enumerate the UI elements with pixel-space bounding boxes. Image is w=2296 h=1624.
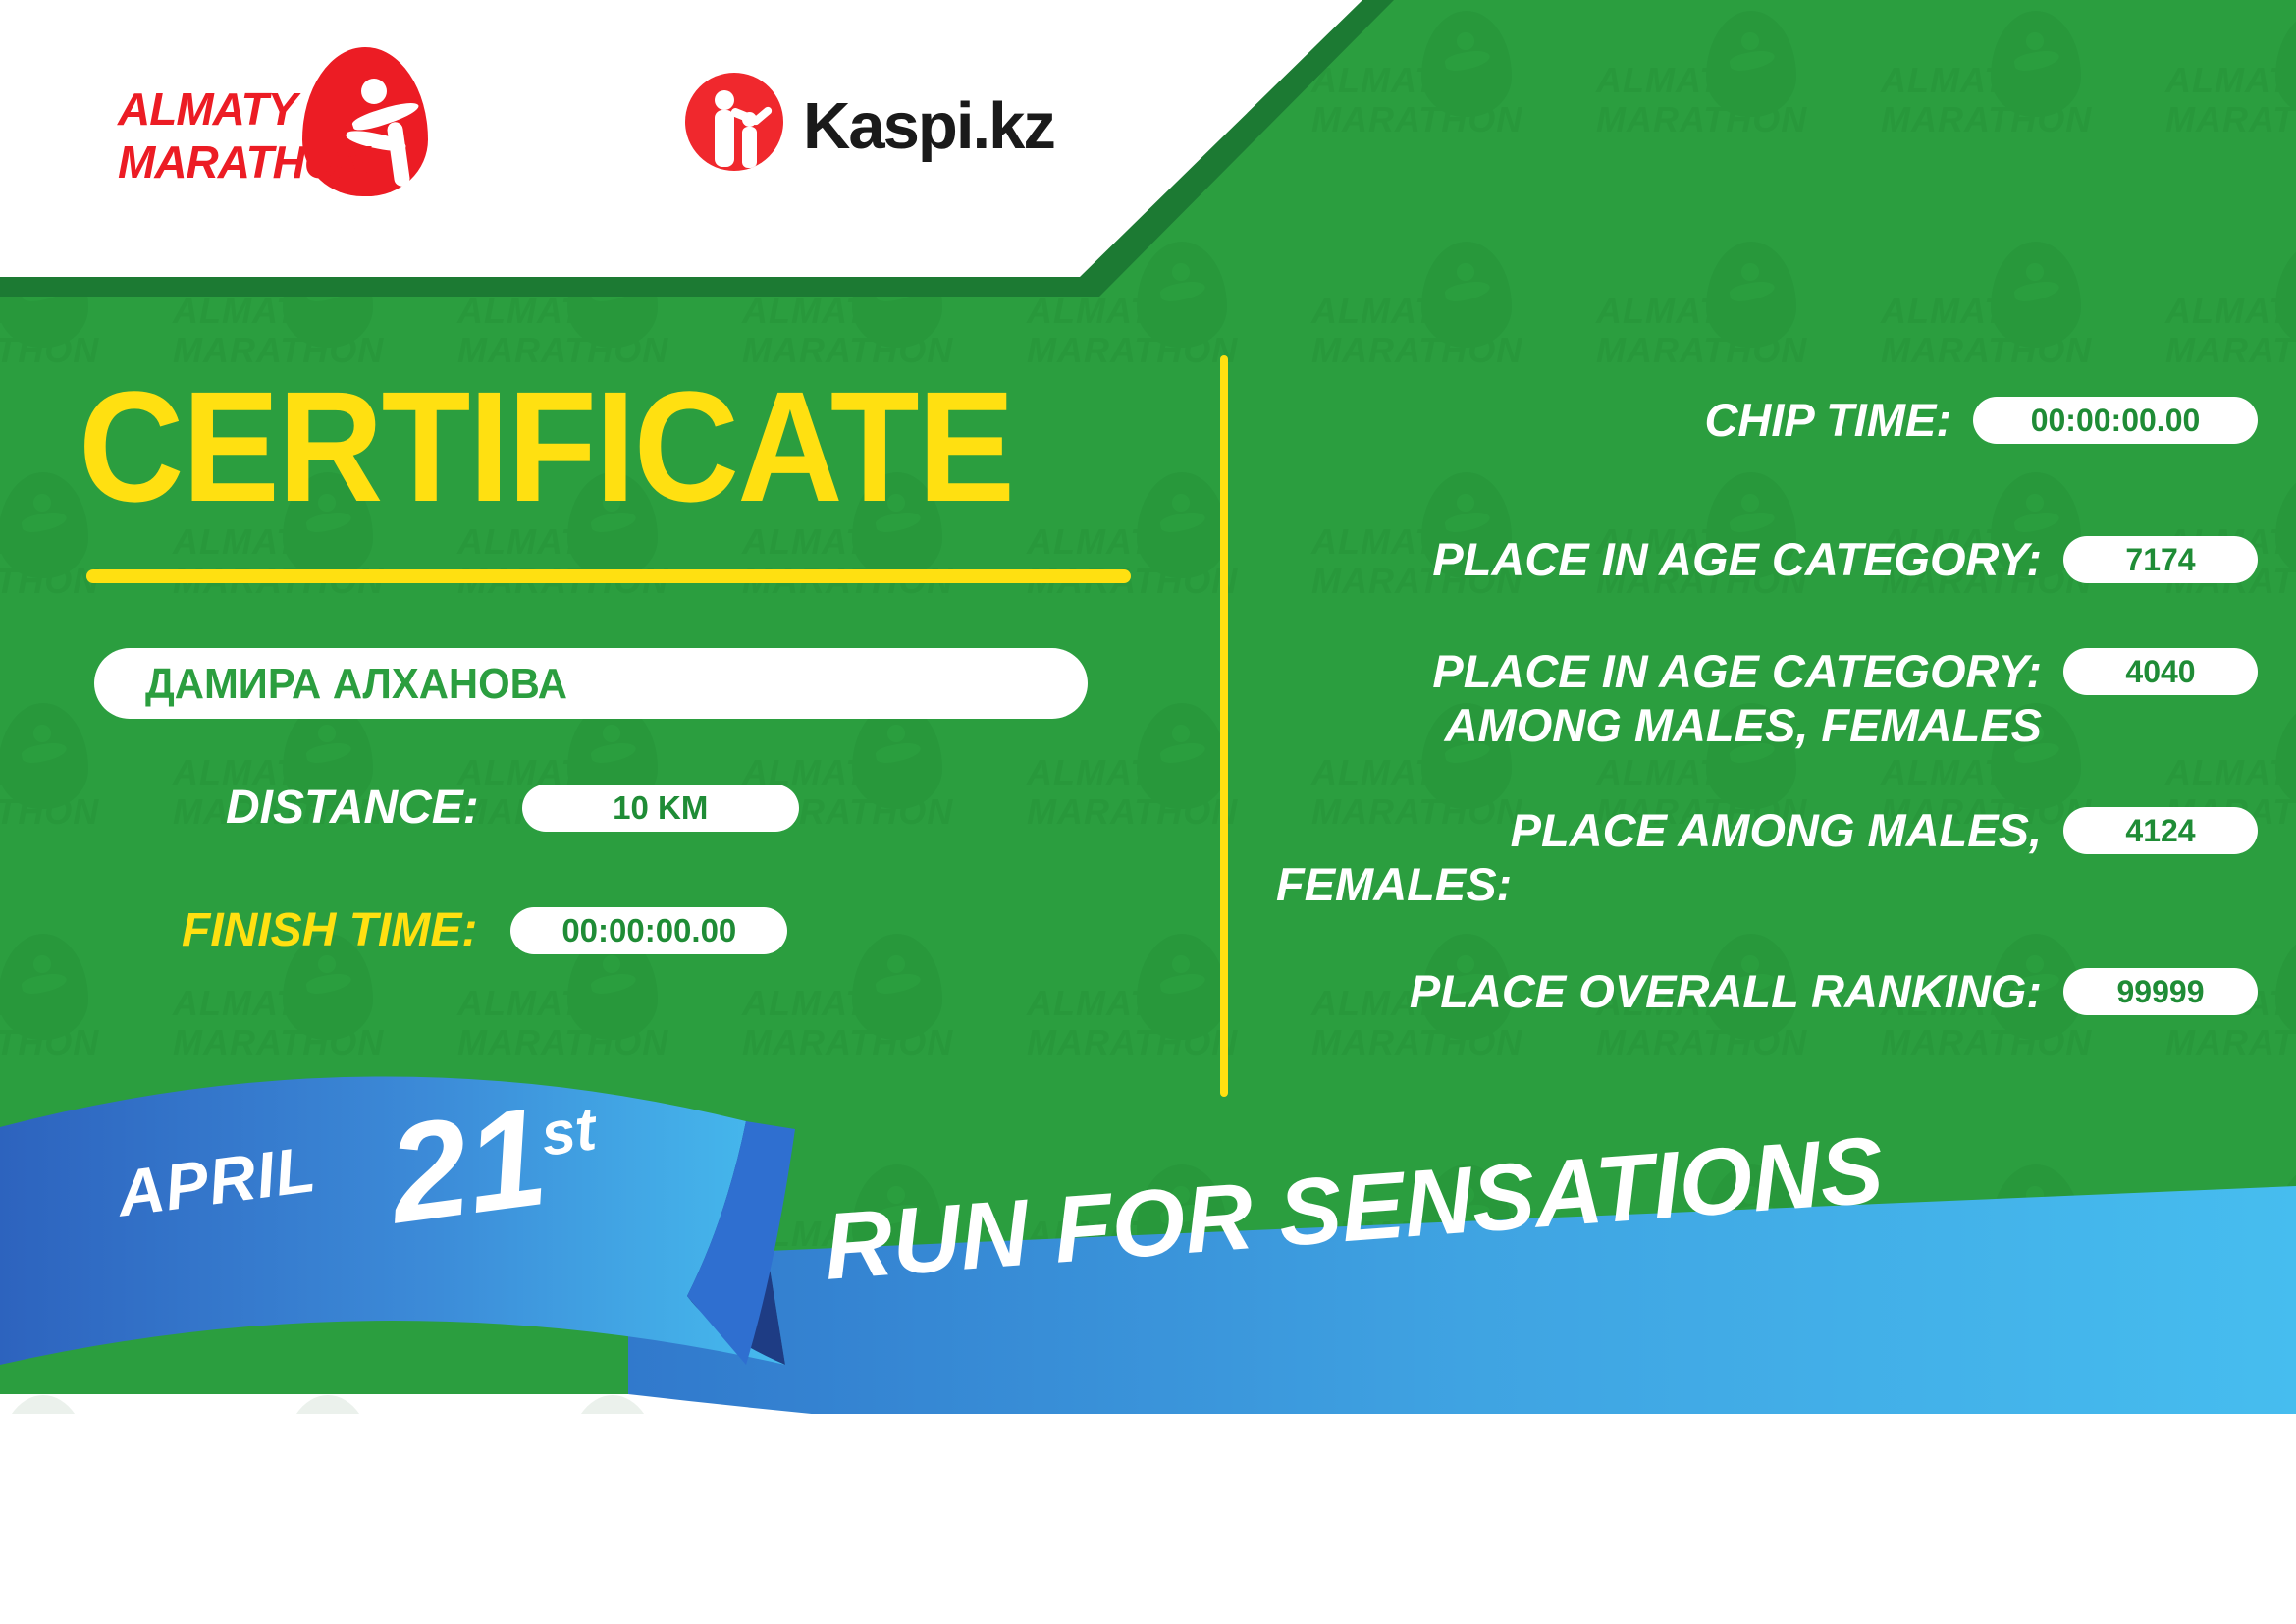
watermark-line-2: MARATHON bbox=[173, 1253, 384, 1294]
watermark-line-2: MARATHON bbox=[1027, 1022, 1238, 1063]
watermark-line-2: MARATHON bbox=[2165, 1253, 2296, 1294]
watermark-line-2: MARATHON bbox=[2165, 1022, 2296, 1063]
watermark-drop-icon bbox=[1991, 11, 2081, 117]
watermark-drop-icon bbox=[2275, 242, 2296, 348]
logo-line-1: ALMATY bbox=[118, 82, 370, 135]
place-age-gender-label: PLACE IN AGE CATEGORY: AMONG MALES, FEMA… bbox=[1276, 644, 2063, 752]
watermark-line-2: MARATHON bbox=[1311, 330, 1522, 371]
result-row-place-age-gender: PLACE IN AGE CATEGORY: AMONG MALES, FEMA… bbox=[1276, 644, 2258, 752]
watermark-tile: ALMATYMARATHON bbox=[1306, 928, 1600, 1159]
watermark-drop-icon bbox=[852, 934, 942, 1040]
watermark-line-1: ALMATY bbox=[173, 291, 323, 332]
result-row-chip-time: CHIP TIME: 00:00:00.00 bbox=[1276, 393, 2258, 447]
watermark-drop-icon bbox=[1137, 242, 1227, 348]
watermark-line-2: MARATHON bbox=[1596, 330, 1807, 371]
watermark-line-1: ALMATY bbox=[2165, 752, 2296, 793]
watermark-line-1: ALMATY bbox=[1027, 291, 1177, 332]
watermark-line-1: ALMATY bbox=[457, 983, 608, 1024]
place-age-gender-value: 4040 bbox=[2063, 648, 2258, 695]
watermark-line-1: ALMATY bbox=[1311, 752, 1462, 793]
watermark-line-1: ALMATY bbox=[1881, 291, 2031, 332]
watermark-line-2: MARATHON bbox=[173, 1022, 384, 1063]
overall-ranking-value: 99999 bbox=[2063, 968, 2258, 1015]
watermark-line-2: MARATHON bbox=[1596, 1253, 1807, 1294]
watermark-drop-icon bbox=[2275, 472, 2296, 578]
watermark-line-2: MARATHON bbox=[0, 1253, 99, 1294]
result-row-place-age: PLACE IN AGE CATEGORY: 7174 bbox=[1276, 532, 2258, 586]
page-title: CERTIFICATE bbox=[79, 373, 1013, 520]
watermark-line-1: ALMATY bbox=[0, 752, 38, 793]
watermark-drop-icon bbox=[1991, 242, 2081, 348]
distance-label: DISTANCE: bbox=[226, 781, 479, 835]
ribbon-day-ordinal: st bbox=[537, 1095, 600, 1169]
chip-time-value: 00:00:00.00 bbox=[1973, 397, 2258, 444]
watermark-drop-icon bbox=[0, 703, 88, 809]
kaspi-wordmark: Kaspi.kz bbox=[803, 88, 1054, 164]
watermark-line-2: MARATHON bbox=[0, 561, 99, 602]
watermark-line-1: ALMATY bbox=[0, 521, 38, 563]
watermark-drop-icon bbox=[1421, 242, 1512, 348]
watermark-line-1: ALMATY bbox=[2165, 60, 2296, 101]
watermark-tile: ALMATYMARATHON bbox=[0, 697, 177, 928]
watermark-tile: ALMATYMARATHON bbox=[2160, 5, 2296, 236]
watermark-tile: ALMATYMARATHON bbox=[1875, 5, 2169, 236]
watermark-drop-icon bbox=[1137, 472, 1227, 578]
almaty-marathon-logo: ALMATY MARATHON bbox=[118, 57, 442, 189]
watermark-line-2: MARATHON bbox=[742, 1022, 953, 1063]
distance-value: 10 KM bbox=[522, 785, 799, 832]
watermark-drop-icon bbox=[0, 1164, 88, 1271]
watermark-line-1: ALMATY bbox=[1881, 1214, 2031, 1255]
watermark-tile: ALMATYMARATHON bbox=[1875, 1159, 2169, 1389]
watermark-drop-icon bbox=[2275, 703, 2296, 809]
watermark-line-1: ALMATY bbox=[173, 983, 323, 1024]
watermark-line-1: ALMATY bbox=[1027, 983, 1177, 1024]
watermark-line-2: MARATHON bbox=[457, 1022, 668, 1063]
watermark-line-2: MARATHON bbox=[1596, 99, 1807, 140]
watermark-drop-icon bbox=[1706, 242, 1796, 348]
watermark-line-1: ALMATY bbox=[742, 291, 892, 332]
watermark-line-2: MARATHON bbox=[0, 1022, 99, 1063]
overall-ranking-label: PLACE OVERALL RANKING: bbox=[1276, 964, 2063, 1018]
label-line-2: AMONG MALES, FEMALES bbox=[1276, 698, 2042, 752]
watermark-drop-icon bbox=[1137, 703, 1227, 809]
certificate-canvas: ALMATYMARATHONALMATYMARATHONALMATYMARATH… bbox=[0, 0, 2296, 1624]
watermark-drop-icon bbox=[1706, 11, 1796, 117]
watermark-line-2: MARATHON bbox=[1027, 330, 1238, 371]
watermark-line-1: ALMATY bbox=[457, 291, 608, 332]
watermark-line-1: ALMATY bbox=[2165, 291, 2296, 332]
column-divider bbox=[1220, 355, 1228, 1097]
watermark-line-2: MARATHON bbox=[2165, 330, 2296, 371]
almaty-marathon-wordmark: ALMATY MARATHON bbox=[118, 82, 370, 189]
ribbon-day-number: 21 bbox=[381, 1078, 555, 1253]
watermark-line-1: ALMATY bbox=[742, 983, 892, 1024]
kaspi-icon bbox=[685, 73, 783, 171]
watermark-tile: ALMATYMARATHON bbox=[1021, 928, 1315, 1159]
label-line-2: FEMALES: bbox=[1276, 857, 2042, 911]
watermark-tile: ALMATYMARATHON bbox=[1021, 697, 1315, 928]
finish-time-row: FINISH TIME: 00:00:00.00 bbox=[182, 903, 787, 957]
watermark-line-1: ALMATY bbox=[1596, 60, 1746, 101]
watermark-line-1: ALMATY bbox=[1881, 752, 2031, 793]
watermark-line-1: ALMATY bbox=[2165, 1214, 2296, 1255]
place-gender-value: 4124 bbox=[2063, 807, 2258, 854]
place-age-label: PLACE IN AGE CATEGORY: bbox=[1276, 532, 2063, 586]
watermark-line-1: ALMATY bbox=[1881, 60, 2031, 101]
watermark-drop-icon bbox=[2275, 1164, 2296, 1271]
result-row-overall: PLACE OVERALL RANKING: 99999 bbox=[1276, 964, 2258, 1018]
watermark-line-1: ALMATY bbox=[0, 983, 38, 1024]
ribbon-day: 21st bbox=[380, 1069, 609, 1256]
watermark-line-2: MARATHON bbox=[1027, 791, 1238, 833]
place-gender-label: PLACE AMONG MALES, FEMALES: bbox=[1276, 803, 2063, 911]
watermark-line-1: ALMATY bbox=[1311, 60, 1462, 101]
logo-line-2: MARATHON bbox=[118, 135, 370, 189]
place-age-value: 7174 bbox=[2063, 536, 2258, 583]
watermark-drop-icon bbox=[2275, 934, 2296, 1040]
watermark-drop-icon bbox=[852, 703, 942, 809]
finish-time-value: 00:00:00.00 bbox=[510, 907, 787, 954]
watermark-tile: ALMATYMARATHON bbox=[1875, 928, 2169, 1159]
watermark-line-1: ALMATY bbox=[0, 1214, 38, 1255]
watermark-line-2: MARATHON bbox=[2165, 99, 2296, 140]
label-line-1: PLACE AMONG MALES, bbox=[1276, 803, 2042, 857]
title-underline bbox=[86, 569, 1131, 583]
watermark-line-2: MARATHON bbox=[1311, 99, 1522, 140]
watermark-tile: ALMATYMARATHON bbox=[2160, 928, 2296, 1159]
watermark-line-1: ALMATY bbox=[1027, 521, 1177, 563]
watermark-drop-icon bbox=[0, 934, 88, 1040]
watermark-tile: ALMATYMARATHON bbox=[0, 928, 177, 1159]
watermark-drop-icon bbox=[1991, 1164, 2081, 1271]
watermark-line-2: MARATHON bbox=[1881, 1022, 2092, 1063]
watermark-drop-icon bbox=[2275, 11, 2296, 117]
watermark-line-2: MARATHON bbox=[0, 791, 99, 833]
watermark-tile: ALMATYMARATHON bbox=[736, 928, 1031, 1159]
watermark-tile: ALMATYMARATHON bbox=[2160, 1159, 2296, 1389]
watermark-line-1: ALMATY bbox=[1027, 752, 1177, 793]
chip-time-label: CHIP TIME: bbox=[1276, 393, 1973, 447]
result-row-place-gender: PLACE AMONG MALES, FEMALES: 4124 bbox=[1276, 803, 2258, 911]
watermark-line-1: ALMATY bbox=[1311, 291, 1462, 332]
watermark-line-1: ALMATY bbox=[1596, 752, 1746, 793]
participant-name-field: ДАМИРА АЛХАНОВА bbox=[94, 648, 1088, 719]
watermark-line-2: MARATHON bbox=[1881, 330, 2092, 371]
watermark-line-2: MARATHON bbox=[1881, 1253, 2092, 1294]
watermark-drop-icon bbox=[1137, 934, 1227, 1040]
finish-time-label: FINISH TIME: bbox=[182, 903, 477, 957]
sponsor-bar: Sulpak SANOFI Empowering Life ORIFLAME S… bbox=[0, 1414, 2296, 1624]
watermark-tile: ALMATYMARATHON bbox=[1590, 5, 1885, 236]
watermark-line-1: ALMATY bbox=[1596, 291, 1746, 332]
participant-name-value: ДАМИРА АЛХАНОВА bbox=[145, 660, 567, 709]
label-line-1: PLACE IN AGE CATEGORY: bbox=[1276, 644, 2042, 698]
watermark-line-1: ALMATY bbox=[0, 291, 38, 332]
watermark-line-2: MARATHON bbox=[1881, 99, 2092, 140]
watermark-drop-icon bbox=[1421, 11, 1512, 117]
watermark-drop-icon bbox=[0, 472, 88, 578]
watermark-line-2: MARATHON bbox=[1311, 1022, 1522, 1063]
kaspi-logo: Kaspi.kz bbox=[677, 59, 1090, 182]
watermark-line-2: MARATHON bbox=[1596, 1022, 1807, 1063]
watermark-line-2: MARATHON bbox=[457, 1253, 668, 1294]
distance-row: DISTANCE: 10 KM bbox=[226, 781, 799, 835]
